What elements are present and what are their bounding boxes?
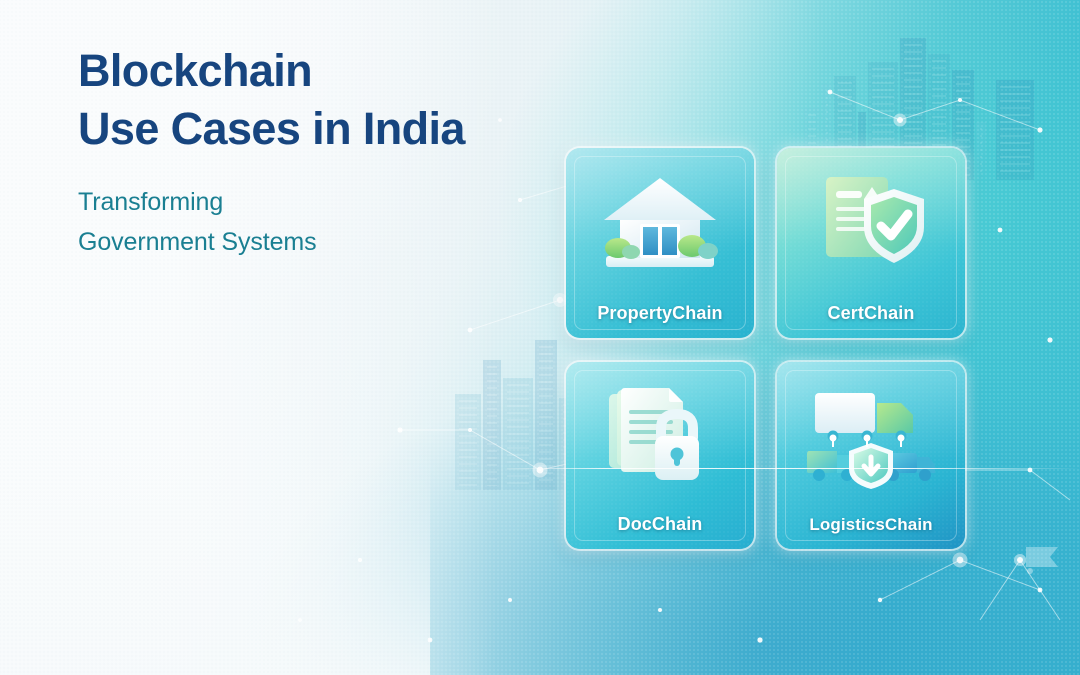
documents-lock-icon [599,384,721,488]
headline-block: Blockchain Use Cases in India Transformi… [78,42,548,262]
card-icon-slot [566,372,754,500]
certificate-shield-icon [810,169,932,275]
card-label-propertychain: PropertyChain [597,303,722,324]
page-subtitle: Transforming Government Systems [78,182,548,262]
card-label-docchain: DocChain [618,514,703,535]
page-title-line-1: Blockchain [78,42,548,100]
card-icon-slot [777,158,965,286]
trucks-shield-icon [801,381,941,491]
card-icon-slot [566,158,754,286]
use-case-card-propertychain[interactable]: PropertyChain [566,148,754,338]
poster-canvas: Blockchain Use Cases in India Transformi… [0,0,1080,675]
card-label-certchain: CertChain [828,303,915,324]
use-case-card-certchain[interactable]: CertChain [777,148,965,338]
page-subtitle-line-2: Government Systems [78,222,548,262]
house-icon [598,170,722,274]
page-subtitle-line-1: Transforming [78,182,548,222]
use-case-card-docchain[interactable]: DocChain [566,362,754,549]
card-label-logisticschain: LogisticsChain [809,515,932,535]
card-icon-slot [777,372,965,500]
page-title-line-2: Use Cases in India [78,100,548,158]
use-case-card-grid: PropertyChain [566,148,971,548]
use-case-card-logisticschain[interactable]: LogisticsChain [777,362,965,549]
